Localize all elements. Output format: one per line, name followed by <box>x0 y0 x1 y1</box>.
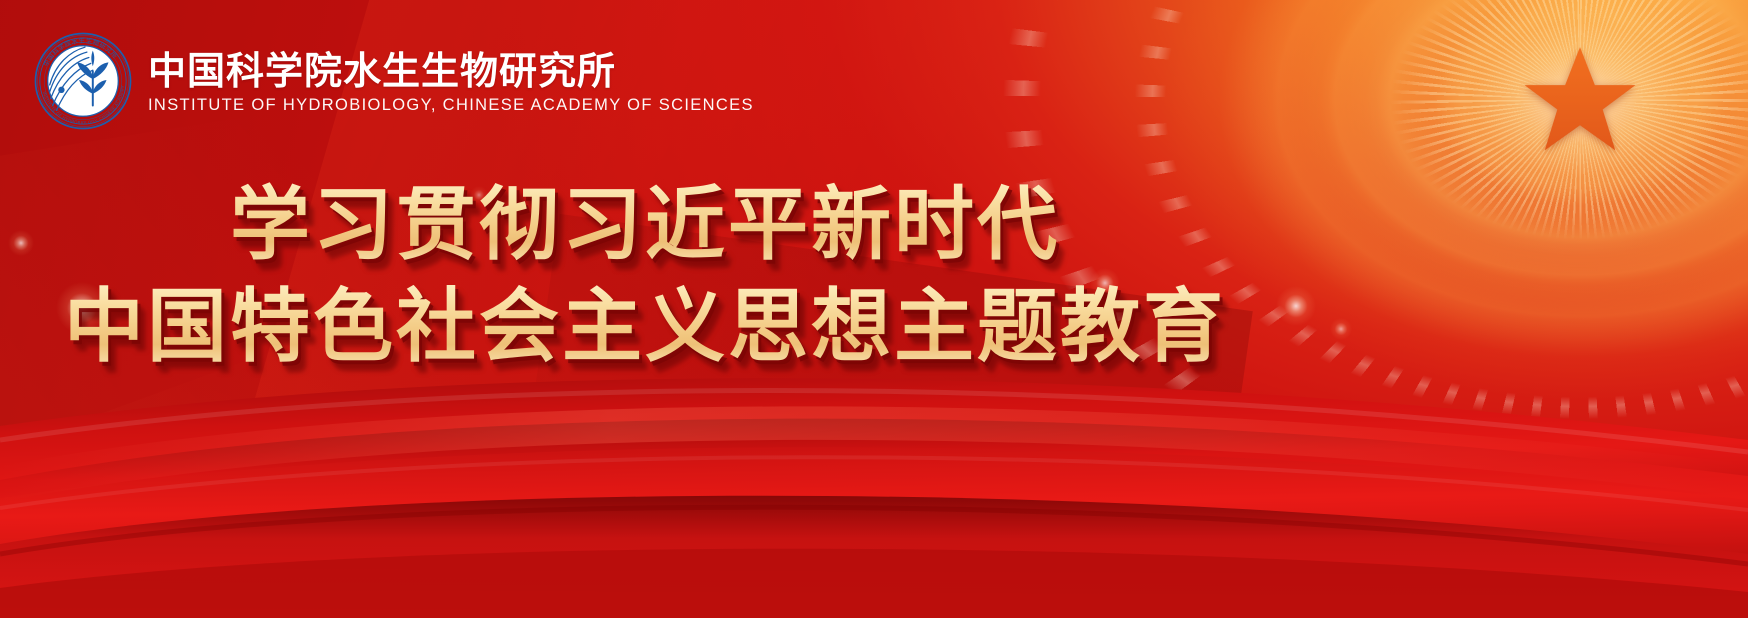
org-name-english: INSTITUTE OF HYDROBIOLOGY, CHINESE ACADE… <box>148 97 754 114</box>
institute-branding-lockup[interactable]: 中国科学院水生生物研究所 INSTITUTE OF HYDROBIOLOGY, … <box>34 32 754 130</box>
promotional-banner: 中国科学院水生生物研究所 INSTITUTE OF HYDROBIOLOGY, … <box>0 0 1748 618</box>
ihb-circular-emblem-icon[interactable]: 中国科学院水生生物研究所 INSTITUTE OF HYDROBIOLOGY, … <box>34 32 132 130</box>
wordmark-block: 中国科学院水生生物研究所 INSTITUTE OF HYDROBIOLOGY, … <box>148 48 754 114</box>
org-name-chinese: 中国科学院水生生物研究所 <box>148 52 754 90</box>
